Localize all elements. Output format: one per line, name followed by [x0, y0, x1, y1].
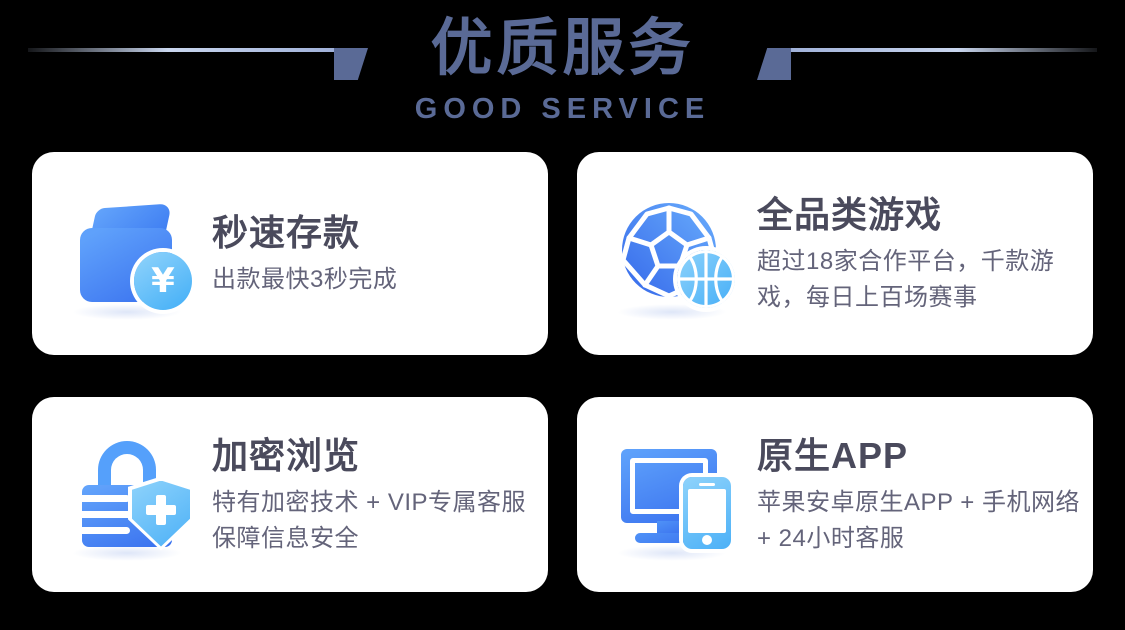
- lock-slot: [82, 495, 130, 502]
- card-description: 特有加密技术 + VIP专属客服保障信息安全: [212, 485, 536, 557]
- yen-coin-icon: ¥: [134, 252, 192, 310]
- lock-graphic: [80, 441, 190, 549]
- card-description: 超过18家合作平台，千款游戏，每日上百场赛事: [757, 244, 1081, 316]
- basketball-icon: [677, 250, 735, 308]
- feature-card-native-app[interactable]: 原生APP 苹果安卓原生APP + 手机网络 + 24小时客服: [577, 397, 1093, 592]
- card-title: 加密浏览: [212, 433, 536, 479]
- wallet-icon: ¥: [58, 184, 206, 324]
- card-text-block: 全品类游戏 超过18家合作平台，千款游戏，每日上百场赛事: [751, 192, 1093, 316]
- card-text-block: 原生APP 苹果安卓原生APP + 手机网络 + 24小时客服: [751, 433, 1093, 557]
- plus-icon-horizontal: [146, 505, 176, 515]
- phone-icon: [683, 477, 731, 549]
- card-text-block: 加密浏览 特有加密技术 + VIP专属客服保障信息安全: [206, 433, 548, 557]
- phone-home-button: [702, 535, 712, 545]
- monitor-phone-icon: [603, 425, 751, 565]
- lock-slot: [82, 527, 130, 534]
- feature-card-games[interactable]: 全品类游戏 超过18家合作平台，千款游戏，每日上百场赛事: [577, 152, 1093, 355]
- phone-speaker: [699, 483, 715, 486]
- feature-card-encryption[interactable]: 加密浏览 特有加密技术 + VIP专属客服保障信息安全: [32, 397, 548, 592]
- phone-screen: [688, 489, 726, 533]
- page-subtitle: GOOD SERVICE: [0, 92, 1125, 126]
- card-title: 秒速存款: [212, 210, 536, 256]
- card-title: 原生APP: [757, 433, 1081, 479]
- feature-card-grid: ¥ 秒速存款 出款最快3秒完成: [32, 152, 1093, 592]
- wallet-graphic: ¥: [80, 206, 184, 306]
- devices-graphic: [621, 449, 739, 545]
- card-description: 出款最快3秒完成: [212, 262, 536, 298]
- sports-balls-icon: [603, 184, 751, 324]
- card-description: 苹果安卓原生APP + 手机网络 + 24小时客服: [757, 485, 1081, 557]
- page-header: 优质服务 GOOD SERVICE: [0, 0, 1125, 145]
- balls-graphic: [621, 202, 737, 314]
- card-title: 全品类游戏: [757, 192, 1081, 238]
- card-text-block: 秒速存款 出款最快3秒完成: [206, 210, 548, 298]
- page-title: 优质服务: [0, 6, 1125, 90]
- feature-card-deposit[interactable]: ¥ 秒速存款 出款最快3秒完成: [32, 152, 548, 355]
- lock-shield-icon: [58, 425, 206, 565]
